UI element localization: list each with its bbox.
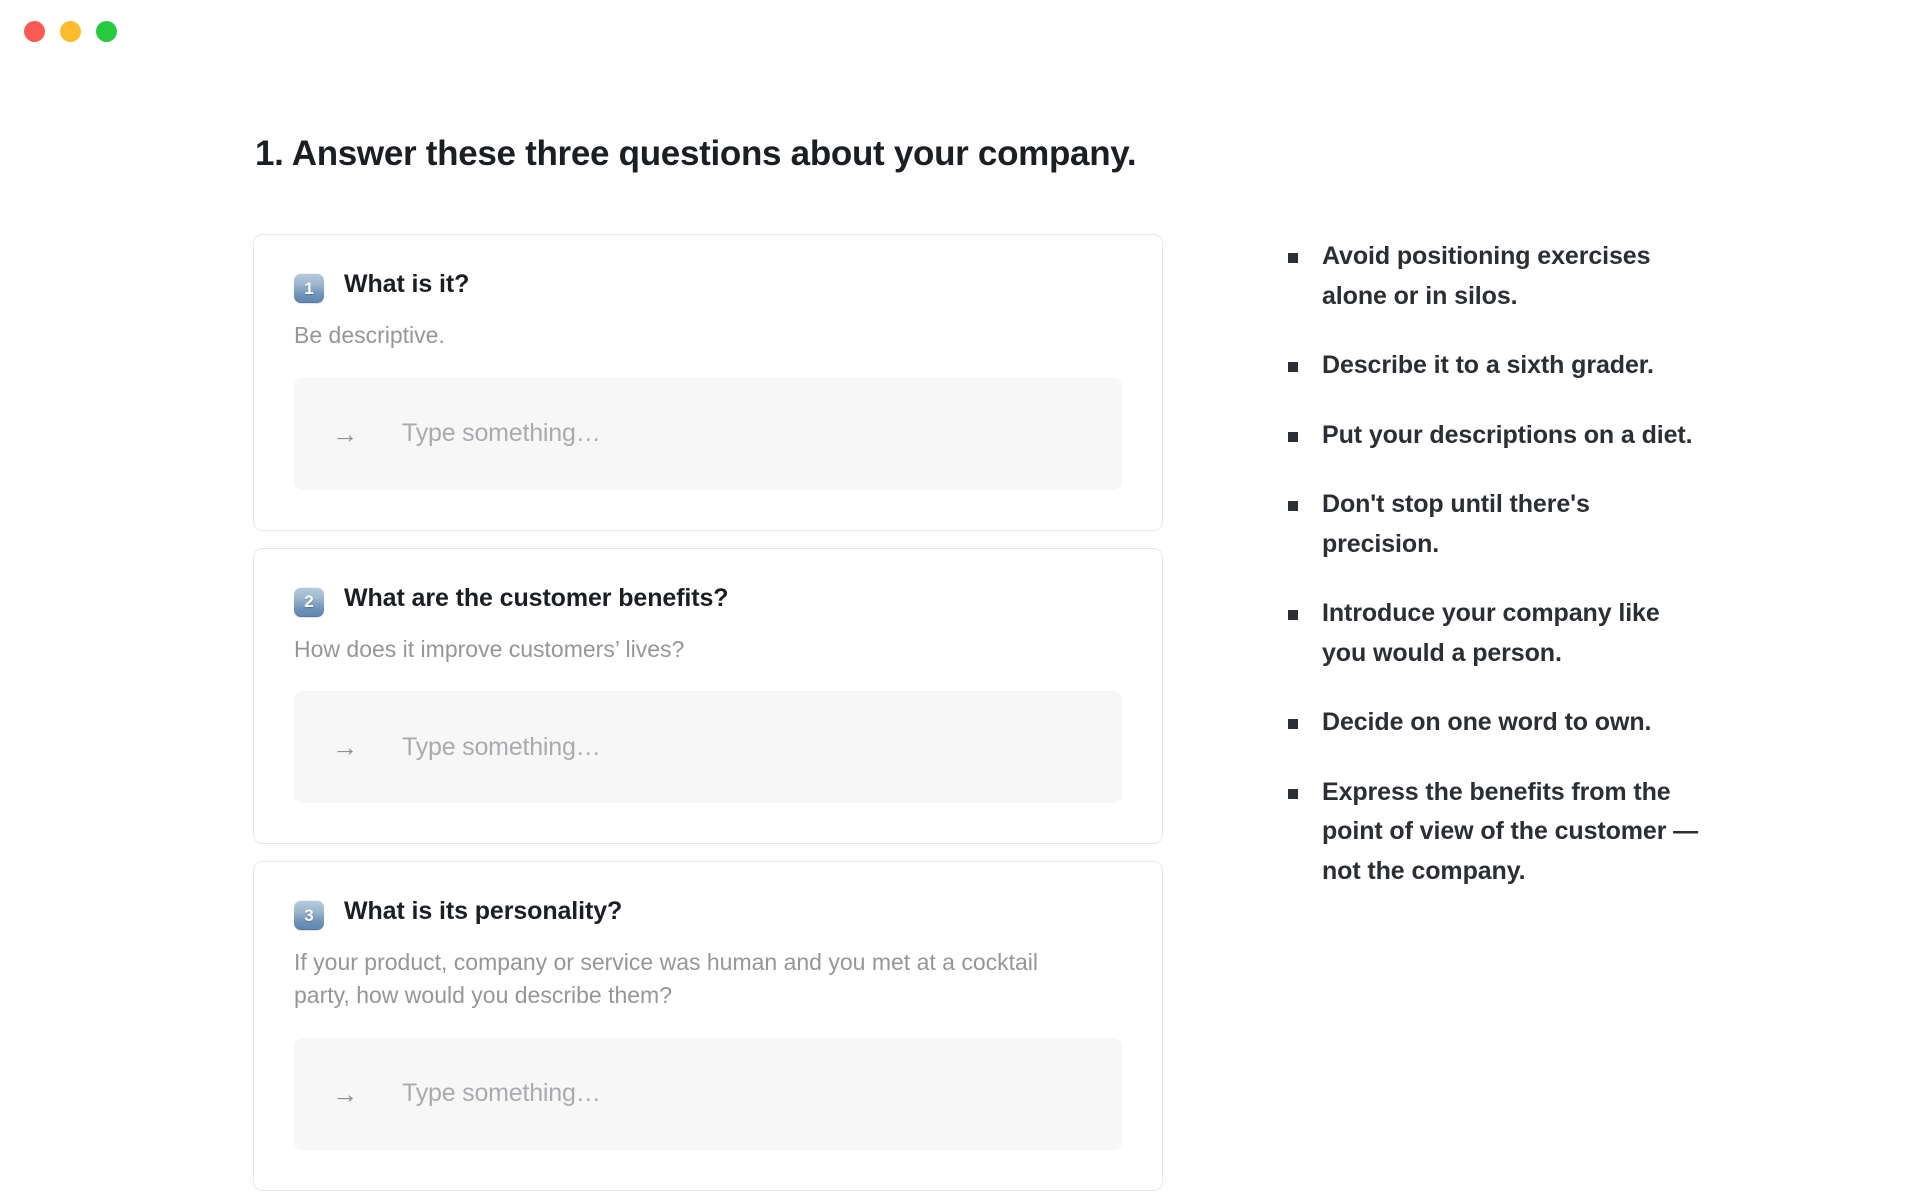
question-card-2: 2 What are the customer benefits? How do… <box>253 548 1163 845</box>
list-item: Put your descriptions on a diet. <box>1288 416 1708 456</box>
bullet-square-icon <box>1288 432 1298 442</box>
tip-text: Express the benefits from the point of v… <box>1322 773 1708 892</box>
traffic-light-controls <box>24 21 117 42</box>
list-item: Introduce your company like you would a … <box>1288 594 1708 673</box>
arrow-right-icon: → <box>332 1081 358 1107</box>
tip-text: Avoid positioning exercises alone or in … <box>1322 237 1708 316</box>
tip-text: Put your descriptions on a diet. <box>1322 416 1692 456</box>
minimize-window-icon[interactable] <box>60 21 81 42</box>
tip-text: Introduce your company like you would a … <box>1322 594 1708 673</box>
answer-input-3[interactable]: → Type something… <box>294 1038 1122 1150</box>
page-title: 1. Answer these three questions about yo… <box>255 134 1136 174</box>
bullet-square-icon <box>1288 719 1298 729</box>
close-window-icon[interactable] <box>24 21 45 42</box>
bullet-square-icon <box>1288 501 1298 511</box>
question-title-1: What is it? <box>344 269 469 300</box>
list-item: Avoid positioning exercises alone or in … <box>1288 237 1708 316</box>
answer-placeholder-2: Type something… <box>402 733 601 762</box>
question-card-list: 1 What is it? Be descriptive. → Type som… <box>253 234 1163 1200</box>
list-item: Don't stop until there's precision. <box>1288 485 1708 564</box>
bullet-square-icon <box>1288 789 1298 799</box>
answer-placeholder-1: Type something… <box>402 419 601 448</box>
tip-text: Describe it to a sixth grader. <box>1322 346 1654 386</box>
bullet-square-icon <box>1288 610 1298 620</box>
question-hint-1: Be descriptive. <box>294 319 1094 352</box>
bullet-square-icon <box>1288 362 1298 372</box>
bullet-square-icon <box>1288 253 1298 263</box>
number-badge-3-icon: 3 <box>294 900 324 930</box>
question-header-2: 2 What are the customer benefits? <box>294 583 1122 617</box>
question-hint-2: How does it improve customers’ lives? <box>294 633 1094 666</box>
maximize-window-icon[interactable] <box>96 21 117 42</box>
list-item: Express the benefits from the point of v… <box>1288 773 1708 892</box>
window-titlebar <box>0 0 1920 62</box>
number-badge-1-icon: 1 <box>294 273 324 303</box>
question-title-3: What is its personality? <box>344 896 622 927</box>
tips-list: Avoid positioning exercises alone or in … <box>1288 237 1708 921</box>
arrow-right-icon: → <box>332 421 358 447</box>
page-content: 1. Answer these three questions about yo… <box>0 62 1920 1200</box>
answer-input-2[interactable]: → Type something… <box>294 691 1122 803</box>
arrow-right-icon: → <box>332 734 358 760</box>
list-item: Decide on one word to own. <box>1288 703 1708 743</box>
answer-placeholder-3: Type something… <box>402 1079 601 1108</box>
question-title-2: What are the customer benefits? <box>344 583 728 614</box>
tip-text: Decide on one word to own. <box>1322 703 1651 743</box>
question-hint-3: If your product, company or service was … <box>294 946 1094 1011</box>
answer-input-1[interactable]: → Type something… <box>294 378 1122 490</box>
question-header-3: 3 What is its personality? <box>294 896 1122 930</box>
number-badge-2-icon: 2 <box>294 587 324 617</box>
question-card-3: 3 What is its personality? If your produ… <box>253 861 1163 1190</box>
tip-text: Don't stop until there's precision. <box>1322 485 1708 564</box>
question-header-1: 1 What is it? <box>294 269 1122 303</box>
question-card-1: 1 What is it? Be descriptive. → Type som… <box>253 234 1163 531</box>
list-item: Describe it to a sixth grader. <box>1288 346 1708 386</box>
